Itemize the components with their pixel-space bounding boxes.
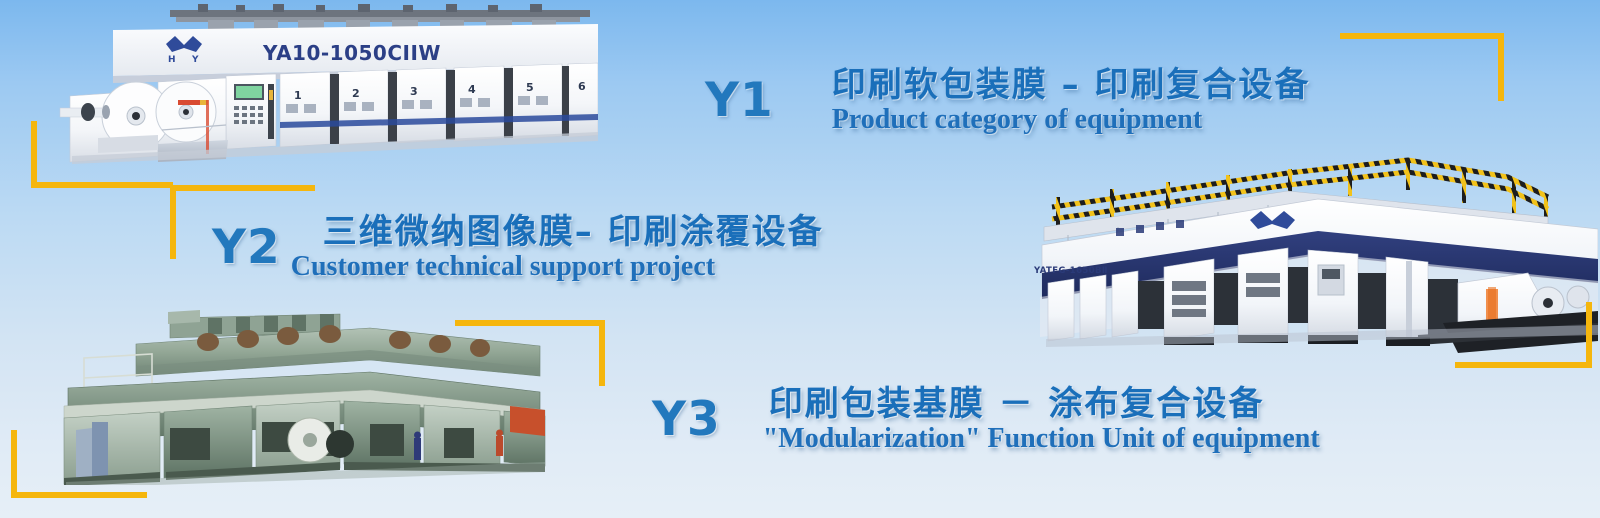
headline-row-y1: Y1 印刷软包装膜 – 印刷复合设备 Product category of e… — [705, 66, 1310, 136]
row-code-y1: Y1 — [705, 77, 774, 124]
bracket-mid-center — [455, 320, 605, 386]
banner-root: H Y YA10-1050CIIW 123 — [0, 0, 1600, 518]
svg-text:YA10-1050CIIW: YA10-1050CIIW — [262, 41, 441, 65]
svg-text:Y: Y — [191, 55, 199, 65]
row-title-cn-y2: 三维微纳图像膜– 印刷涂覆设备 — [323, 213, 824, 251]
row-code-y2: Y2 — [212, 224, 281, 271]
row-title-en-y3: "Modularization" Function Unit of equipm… — [763, 424, 1320, 455]
svg-text:3: 3 — [410, 85, 418, 98]
row-title-cn-y1: 印刷软包装膜 – 印刷复合设备 — [832, 66, 1311, 104]
headline-row-y2: Y2 三维微纳图像膜– 印刷涂覆设备 Customer technical su… — [212, 213, 824, 283]
bracket-bottom-left — [11, 430, 147, 498]
svg-text:6: 6 — [578, 80, 586, 93]
bracket-top-right — [1340, 33, 1504, 101]
row-title-cn-y3: 印刷包装基膜 － 涂布复合设备 — [769, 385, 1320, 423]
row-text-y1: 印刷软包装膜 – 印刷复合设备 Product category of equi… — [832, 66, 1311, 136]
row-title-en-y1: Product category of equipment — [832, 105, 1311, 136]
row-text-y3: 印刷包装基膜 － 涂布复合设备 "Modularization" Functio… — [769, 385, 1320, 455]
svg-text:YATFG-1650BⅡ: YATFG-1650BⅡ — [1033, 266, 1108, 276]
svg-text:5: 5 — [526, 81, 534, 94]
headline-row-y3: Y3 印刷包装基膜 － 涂布复合设备 "Modularization" Func… — [652, 385, 1320, 455]
bracket-top-left — [31, 121, 173, 188]
svg-text:H: H — [168, 55, 176, 65]
row-code-y3: Y3 — [652, 396, 721, 443]
bracket-bottom-right — [1455, 302, 1592, 368]
row-title-en-y2: Customer technical support project — [291, 252, 824, 283]
svg-text:1: 1 — [294, 89, 302, 102]
svg-text:2: 2 — [352, 87, 360, 100]
svg-text:4: 4 — [468, 83, 476, 96]
row-text-y2: 三维微纳图像膜– 印刷涂覆设备 Customer technical suppo… — [323, 213, 824, 283]
